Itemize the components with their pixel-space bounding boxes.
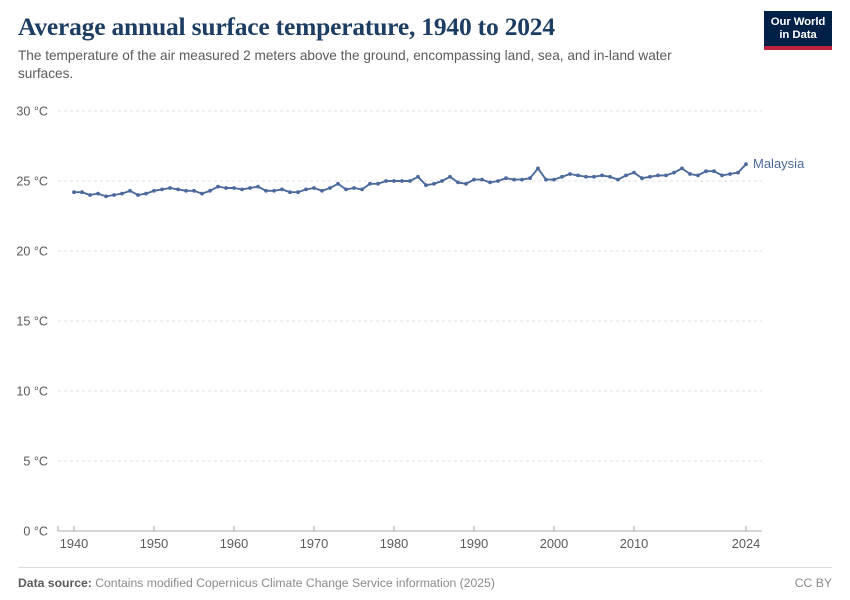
data-point[interactable] [656,174,660,178]
data-point[interactable] [496,179,500,183]
data-point[interactable] [176,188,180,192]
data-point[interactable] [552,178,556,182]
x-axis-tick-label: 2000 [540,536,568,551]
data-point[interactable] [184,189,188,193]
y-axis-tick-label: 0 °C [23,525,48,539]
data-point[interactable] [624,174,628,178]
data-point[interactable] [120,192,124,196]
data-point[interactable] [320,189,324,193]
data-point[interactable] [408,179,412,183]
x-axis-tick-label: 2024 [732,536,760,551]
x-axis-tick-label: 1950 [140,536,168,551]
data-point[interactable] [296,190,300,194]
data-point[interactable] [584,175,588,179]
data-point[interactable] [568,172,572,176]
data-point[interactable] [728,172,732,176]
y-axis-labels-group: 0 °C5 °C10 °C15 °C20 °C25 °C30 °C [16,105,48,539]
data-point[interactable] [280,188,284,192]
data-source: Data source: Contains modified Copernicu… [18,576,495,590]
data-point[interactable] [680,167,684,171]
data-point[interactable] [336,182,340,186]
chart-page: Average annual surface temperature, 1940… [0,0,850,600]
data-point[interactable] [536,167,540,171]
data-point[interactable] [512,178,516,182]
data-point[interactable] [720,174,724,178]
data-point[interactable] [488,181,492,185]
data-point[interactable] [272,189,276,193]
data-point[interactable] [304,188,308,192]
data-point[interactable] [640,176,644,180]
data-point[interactable] [416,175,420,179]
series-label-group: Malaysia [753,156,805,171]
data-point[interactable] [152,189,156,193]
data-point[interactable] [248,186,252,190]
series-group [72,162,748,198]
data-point[interactable] [136,193,140,197]
data-point[interactable] [344,188,348,192]
data-point[interactable] [424,183,428,187]
data-point[interactable] [112,193,116,197]
data-point[interactable] [608,175,612,179]
data-point[interactable] [712,169,716,173]
data-point[interactable] [592,175,596,179]
data-point[interactable] [632,171,636,175]
data-point[interactable] [360,188,364,192]
y-axis-tick-label: 25 °C [16,175,48,189]
data-point[interactable] [200,192,204,196]
data-point[interactable] [504,176,508,180]
data-point[interactable] [576,174,580,178]
data-point[interactable] [352,186,356,190]
data-point[interactable] [312,186,316,190]
x-axis-tick-label: 1960 [220,536,248,551]
x-axis-group [58,526,762,531]
data-point[interactable] [384,179,388,183]
data-point[interactable] [192,189,196,193]
data-point[interactable] [232,186,236,190]
chart-canvas: 0 °C5 °C10 °C15 °C20 °C25 °C30 °C 194019… [0,0,850,560]
data-point[interactable] [704,169,708,173]
x-axis-tick-label: 1980 [380,536,408,551]
y-axis-tick-label: 15 °C [16,315,48,329]
data-point[interactable] [744,162,748,166]
y-axis-tick-label: 20 °C [16,245,48,259]
data-point[interactable] [240,188,244,192]
data-point[interactable] [464,182,468,186]
data-point[interactable] [88,193,92,197]
x-axis-tick-label: 1970 [300,536,328,551]
data-point[interactable] [432,182,436,186]
data-source-label: Data source: [18,576,92,590]
data-point[interactable] [520,178,524,182]
x-axis-tick-label: 2010 [620,536,648,551]
data-point[interactable] [672,171,676,175]
data-point[interactable] [696,174,700,178]
data-point[interactable] [144,192,148,196]
data-point[interactable] [616,178,620,182]
data-point[interactable] [544,178,548,182]
data-point[interactable] [80,190,84,194]
data-point[interactable] [648,175,652,179]
data-point[interactable] [368,182,372,186]
data-point[interactable] [664,174,668,178]
data-point[interactable] [216,185,220,189]
y-axis-tick-label: 30 °C [16,105,48,119]
data-point[interactable] [264,189,268,193]
data-point[interactable] [104,195,108,199]
data-point[interactable] [128,189,132,193]
x-axis-tick-label: 1940 [60,536,88,551]
y-axis-tick-label: 5 °C [23,455,48,469]
series-label-malaysia[interactable]: Malaysia [753,156,805,171]
data-point[interactable] [480,178,484,182]
data-point[interactable] [400,179,404,183]
chart-footer: Data source: Contains modified Copernicu… [18,567,832,590]
license-label[interactable]: CC BY [795,576,832,590]
data-point[interactable] [208,189,212,193]
data-point[interactable] [168,186,172,190]
data-point[interactable] [456,181,460,185]
data-point[interactable] [328,186,332,190]
data-point[interactable] [392,179,396,183]
gridlines-group [58,111,762,461]
data-point[interactable] [224,186,228,190]
data-point[interactable] [688,172,692,176]
data-point[interactable] [448,175,452,179]
data-point[interactable] [472,178,476,182]
data-point[interactable] [736,171,740,175]
data-point[interactable] [600,174,604,178]
data-point[interactable] [376,182,380,186]
data-point[interactable] [560,175,564,179]
data-point[interactable] [288,190,292,194]
data-point[interactable] [256,185,260,189]
line-chart-svg: 0 °C5 °C10 °C15 °C20 °C25 °C30 °C 194019… [0,0,850,560]
data-point[interactable] [440,179,444,183]
data-point[interactable] [528,176,532,180]
data-point[interactable] [96,192,100,196]
x-axis-tick-label: 1990 [460,536,488,551]
y-axis-tick-label: 10 °C [16,385,48,399]
data-source-text: Contains modified Copernicus Climate Cha… [95,576,495,590]
data-point[interactable] [160,188,164,192]
data-point[interactable] [72,190,76,194]
x-axis-labels-group: 194019501960197019801990200020102024 [60,536,760,551]
